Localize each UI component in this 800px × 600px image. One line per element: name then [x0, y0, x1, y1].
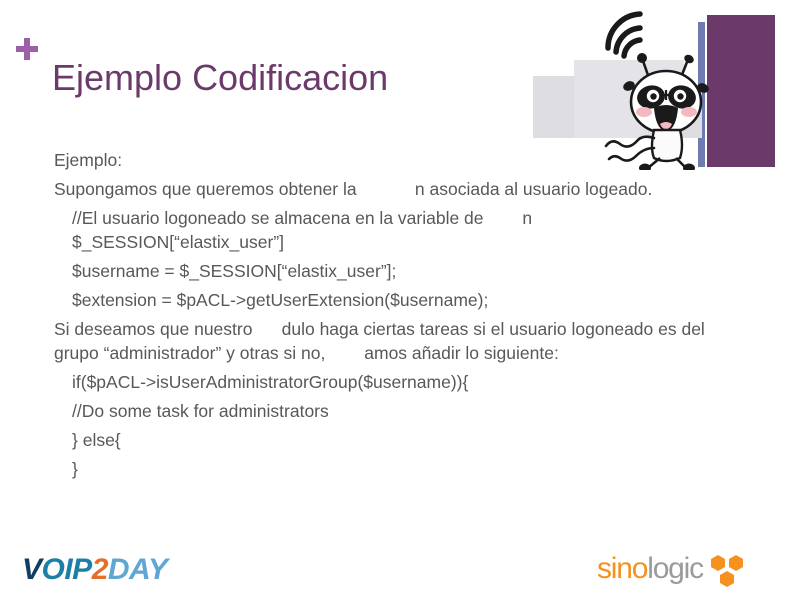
body-line: $username = $_SESSION[“elastix_user”]; [72, 259, 734, 283]
plus-icon [14, 36, 40, 62]
voip2day-logo-two: 2 [92, 553, 108, 586]
body-line: Ejemplo: [54, 148, 734, 172]
honeycomb-icon [707, 554, 747, 590]
body-line: //El usuario logoneado se almacena en la… [72, 206, 734, 254]
sinologic-logo-logic: logic [647, 552, 703, 585]
body-line: $extension = $pACL->getUserExtension($us… [72, 288, 734, 312]
wifi-panda-mascot-icon [592, 2, 722, 170]
body-line: } else{ [72, 428, 734, 452]
page-title: Ejemplo Codificacion [52, 56, 388, 100]
voip2day-logo-day: DAY [108, 553, 168, 586]
voip2day-logo-v: V [22, 553, 42, 586]
body-line: //Do some task for administrators [72, 399, 734, 423]
body-line: } [72, 457, 734, 481]
sinologic-logo-sino: sino [597, 552, 647, 585]
slide-canvas: Ejemplo Codificacion Ejemplo: Supongamos… [0, 0, 800, 600]
slide-body: Ejemplo: Supongamos que queremos obtener… [54, 148, 734, 486]
body-line: if($pACL->isUserAdministratorGroup($user… [72, 370, 734, 394]
sinologic-logo: sinologic [597, 552, 747, 592]
body-line: Supongamos que queremos obtener la n aso… [54, 177, 734, 201]
voip2day-logo: VOIP2DAY [22, 553, 168, 587]
body-line: Si deseamos que nuestro dulo haga cierta… [54, 317, 734, 365]
voip2day-logo-oip: OIP [42, 553, 92, 586]
